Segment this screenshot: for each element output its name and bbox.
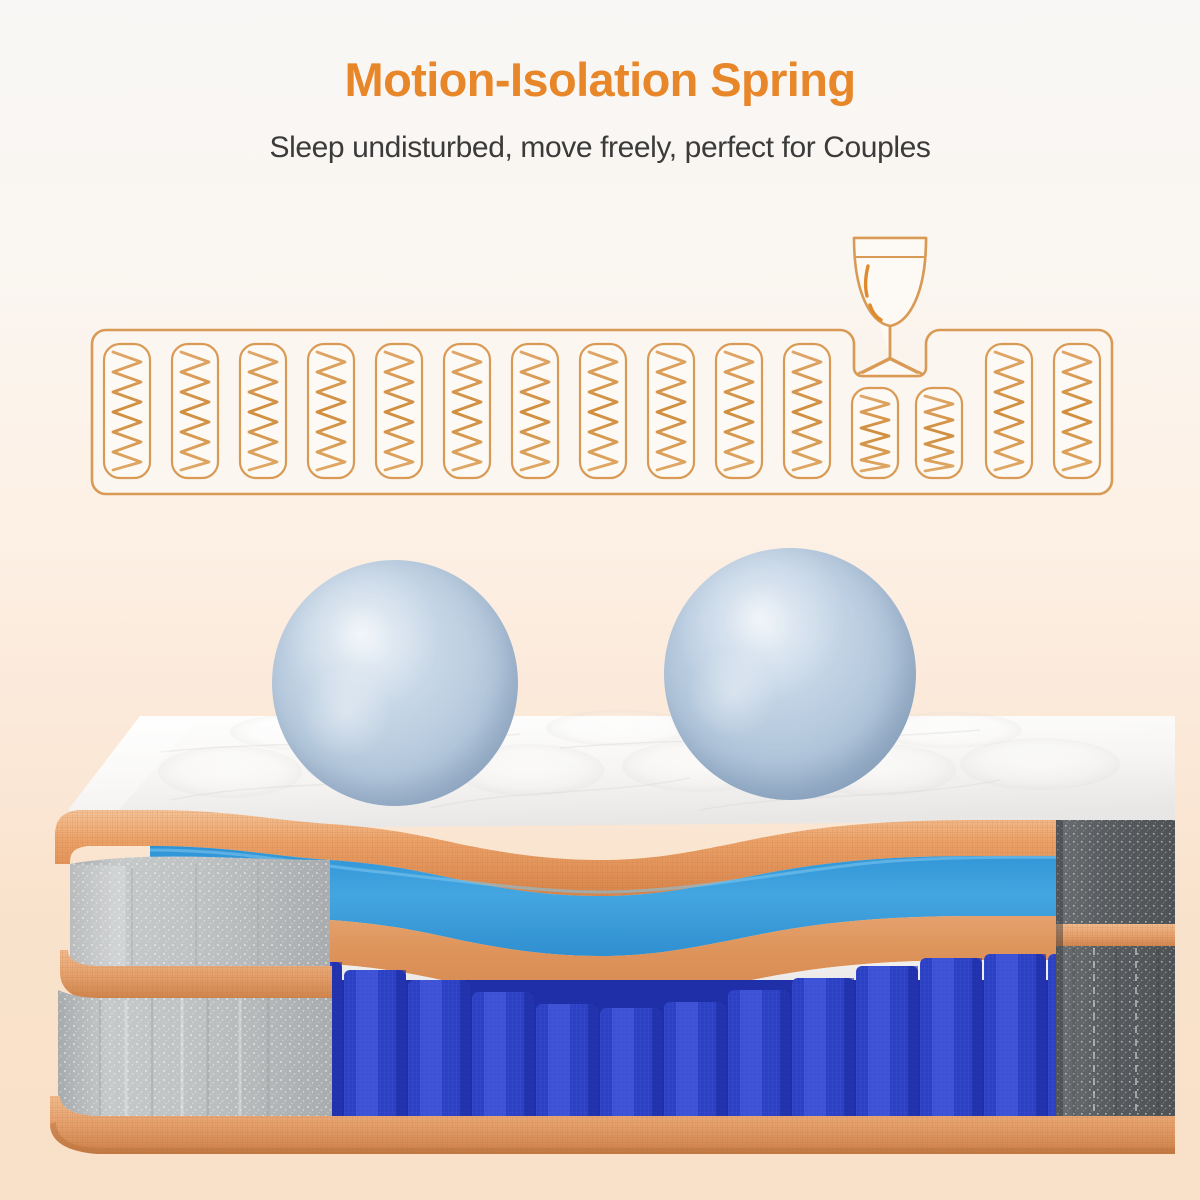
spring-pocket <box>444 344 490 478</box>
spring-pocket-compressed <box>852 388 898 478</box>
spring-pocket <box>648 344 694 478</box>
pocket-coil <box>792 978 854 1140</box>
quilted-pillow-top <box>68 710 1175 830</box>
page-title: Motion-Isolation Spring <box>0 52 1200 107</box>
mattress-cutaway <box>0 520 1200 1200</box>
demo-sphere-right <box>664 548 916 800</box>
demo-sphere-left <box>272 560 518 806</box>
pocket-coil <box>984 954 1046 1140</box>
pocket-coil <box>920 958 982 1140</box>
wine-glass-icon <box>854 238 926 376</box>
poster-canvas: Motion-Isolation Spring Sleep undisturbe… <box>0 0 1200 1200</box>
side-panel-upper-left <box>70 857 330 984</box>
spring-pocket <box>784 344 830 478</box>
spring-pocket <box>240 344 286 478</box>
spring-pocket <box>580 344 626 478</box>
pocket-coil <box>856 966 918 1140</box>
pocket-coil <box>344 970 406 1140</box>
spring-pocket <box>1054 344 1100 478</box>
spring-pocket <box>716 344 762 478</box>
spring-pocket <box>308 344 354 478</box>
spring-pocket <box>172 344 218 478</box>
side-panel-right <box>1056 820 1175 1142</box>
spring-pocket <box>986 344 1032 478</box>
spring-pocket-compressed <box>916 388 962 478</box>
spring-pocket <box>512 344 558 478</box>
page-subtitle: Sleep undisturbed, move freely, perfect … <box>0 131 1200 165</box>
spring-pocket <box>376 344 422 478</box>
spring-isolation-diagram <box>78 222 1126 522</box>
spring-pocket <box>104 344 150 478</box>
